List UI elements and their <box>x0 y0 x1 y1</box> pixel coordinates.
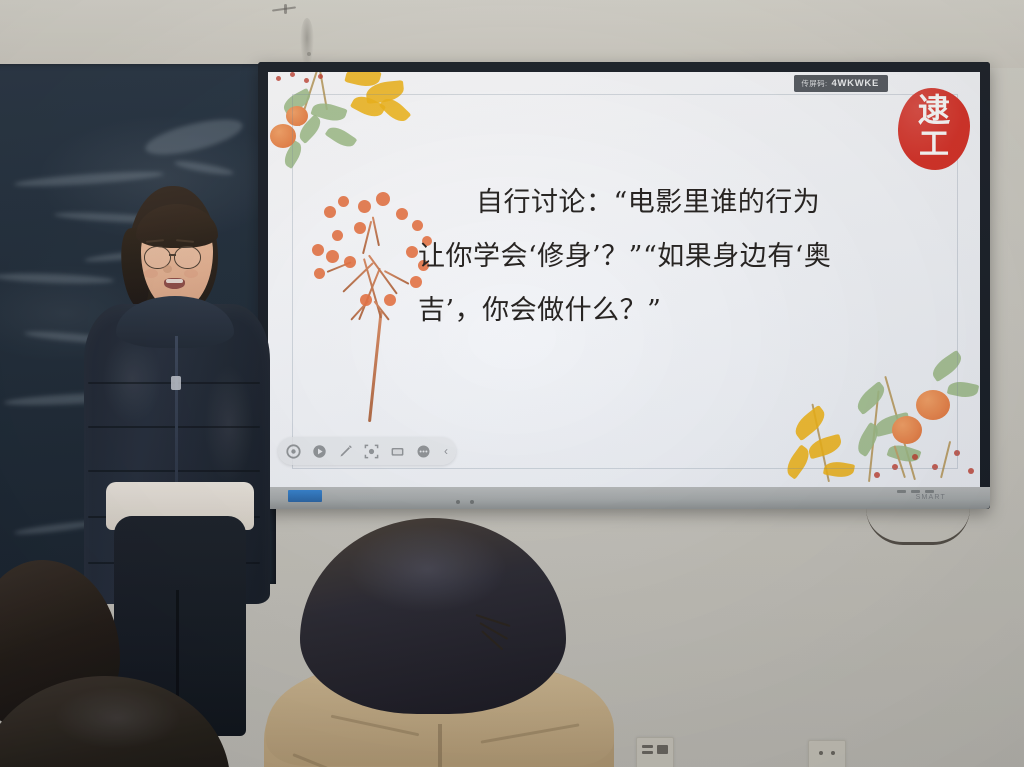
panel-bottom-bar: SMART <box>258 487 990 509</box>
eyeglass-right <box>174 246 201 269</box>
panel-brand-label: SMART <box>916 494 946 501</box>
coat-center-seam <box>438 724 442 767</box>
interactive-flat-panel[interactable]: 传屏码: 4WKWKE 逮 工 自行讨论：“电影里谁的行为 让你学会‘修身’？”… <box>258 62 990 509</box>
audience-head-center <box>300 518 650 767</box>
wall-speck <box>307 52 311 56</box>
eyeglass-bridge <box>169 254 176 256</box>
wall-power-socket[interactable] <box>808 740 846 767</box>
wall-upper-band <box>0 0 1024 68</box>
ceiling-smudge <box>300 18 314 68</box>
ceiling-mark-2 <box>284 4 287 14</box>
zipper-pull <box>171 376 181 390</box>
panel-bezel <box>258 62 990 509</box>
classroom-scene: 传屏码: 4WKWKE 逮 工 自行讨论：“电影里谁的行为 让你学会‘修身’？”… <box>0 0 1024 767</box>
panel-sticker <box>288 490 322 502</box>
presenter-nose <box>163 265 172 273</box>
audience-hair <box>300 518 566 714</box>
audience-head-bottom-left <box>0 676 230 767</box>
presenter-mouth <box>164 278 185 289</box>
